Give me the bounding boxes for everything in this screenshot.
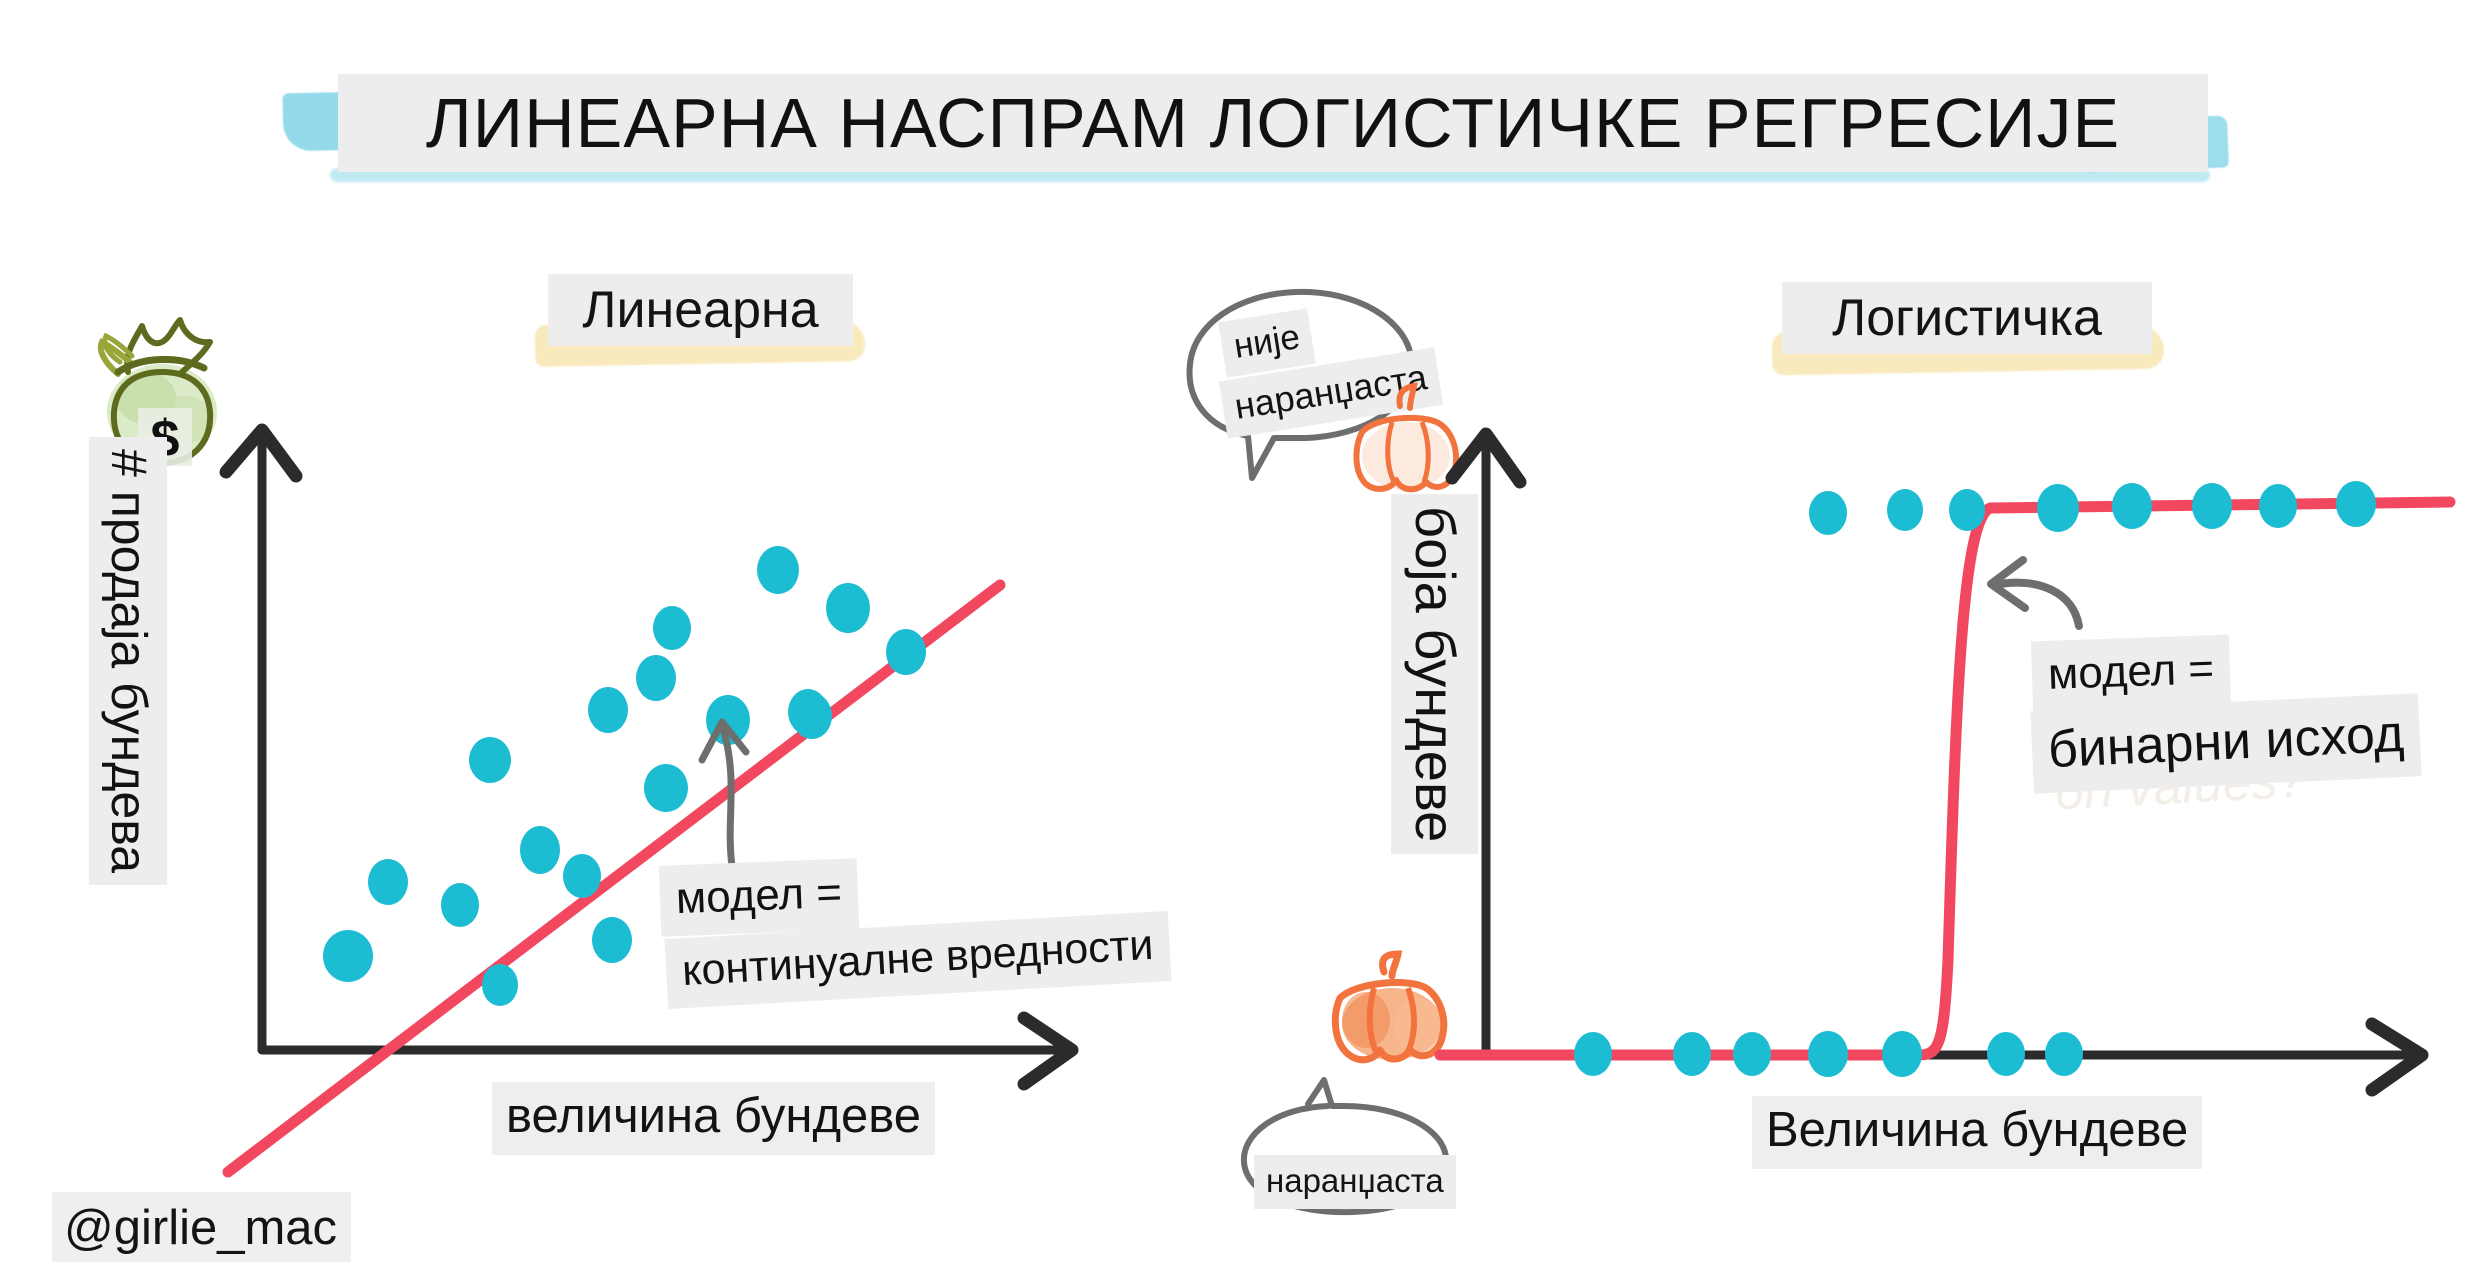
page-title: ЛИНЕАРНА НАСПРАМ ЛОГИСТИЧКЕ РЕГРЕСИЈЕ [338,74,2208,172]
scatter-dot [653,606,691,650]
bubble-bottom-line1: наранџаста [1254,1155,1456,1209]
illustration-canvas: ЛИНЕАРНА НАСПРАМ ЛОГИСТИЧКЕ РЕГРЕСИЈЕ Ли… [0,0,2481,1262]
scatter-dot [368,859,408,905]
scatter-dot [826,583,870,633]
scatter-dot [588,687,628,733]
scatter-dot [482,964,518,1006]
scatter-dot [2259,484,2297,528]
scatter-dot [1987,1032,2025,1076]
scatter-dot [2336,481,2376,527]
scatter-dot [469,737,511,783]
scatter-dot [2112,483,2152,529]
linear-heading: Линеарна [548,274,853,346]
scatter-dot [1949,489,1985,531]
scatter-dot [1673,1032,1711,1076]
scatter-dot [1887,489,1923,531]
right-y-axis-label: боја бундеве [1391,494,1478,854]
scatter-dot [1808,1031,1848,1077]
logistic-heading: Логистичка [1782,282,2152,354]
scatter-dot [441,883,479,927]
right-annotation-line2: бинарни исход [2030,693,2422,794]
left-x-axis-label: величина бундеве [492,1082,935,1155]
scatter-dot [1882,1031,1922,1077]
right-x-axis-label: Величина бундеве [1752,1096,2202,1169]
scatter-dot [886,629,926,675]
scatter-dot [2192,483,2232,529]
scatter-dot [1809,491,1847,535]
author-signature: @girlie_mac [52,1192,351,1262]
right-annotation-line1: модел = [2031,635,2231,713]
scatter-dot [520,826,560,874]
scatter-dot [1733,1032,1771,1076]
left-y-axis-label: # продаја бундева [89,437,167,885]
scatter-dot [757,546,799,594]
scatter-dot [592,917,632,963]
scatter-dot [1574,1032,1612,1076]
scatter-dot [323,930,373,982]
scatter-dot [2045,1032,2083,1076]
scatter-dot [2037,484,2079,532]
left-annotation-line1: модел = [659,858,860,937]
scatter-dot [563,854,601,898]
